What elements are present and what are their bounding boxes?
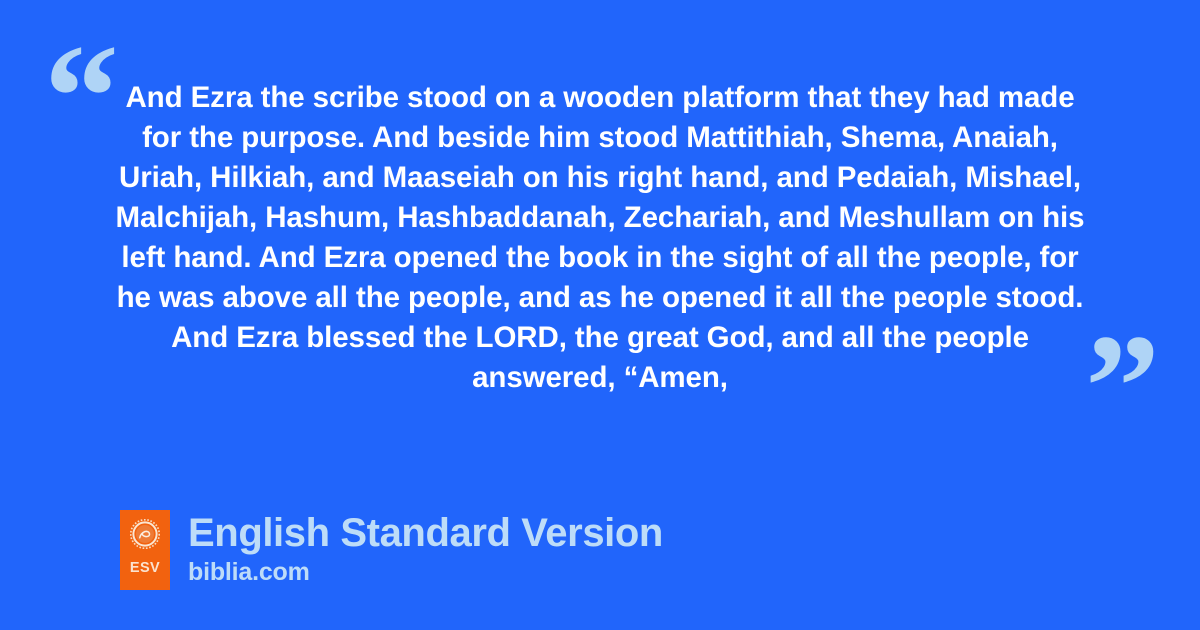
esv-logo-badge: ESV	[120, 510, 170, 590]
verse-block: And Ezra the scribe stood on a wooden pl…	[108, 78, 1092, 398]
verse-text: And Ezra the scribe stood on a wooden pl…	[108, 78, 1092, 398]
brand-text-group: English Standard Version biblia.com	[188, 512, 663, 588]
branding-footer: ESV English Standard Version biblia.com	[120, 510, 663, 590]
site-url: biblia.com	[188, 557, 663, 588]
verse-card: “ And Ezra the scribe stood on a wooden …	[0, 0, 1200, 630]
translation-title: English Standard Version	[188, 512, 663, 554]
closing-quote-icon: ”	[1085, 312, 1160, 462]
esv-abbreviation-label: ESV	[130, 561, 160, 576]
esv-seal-icon	[130, 519, 160, 549]
